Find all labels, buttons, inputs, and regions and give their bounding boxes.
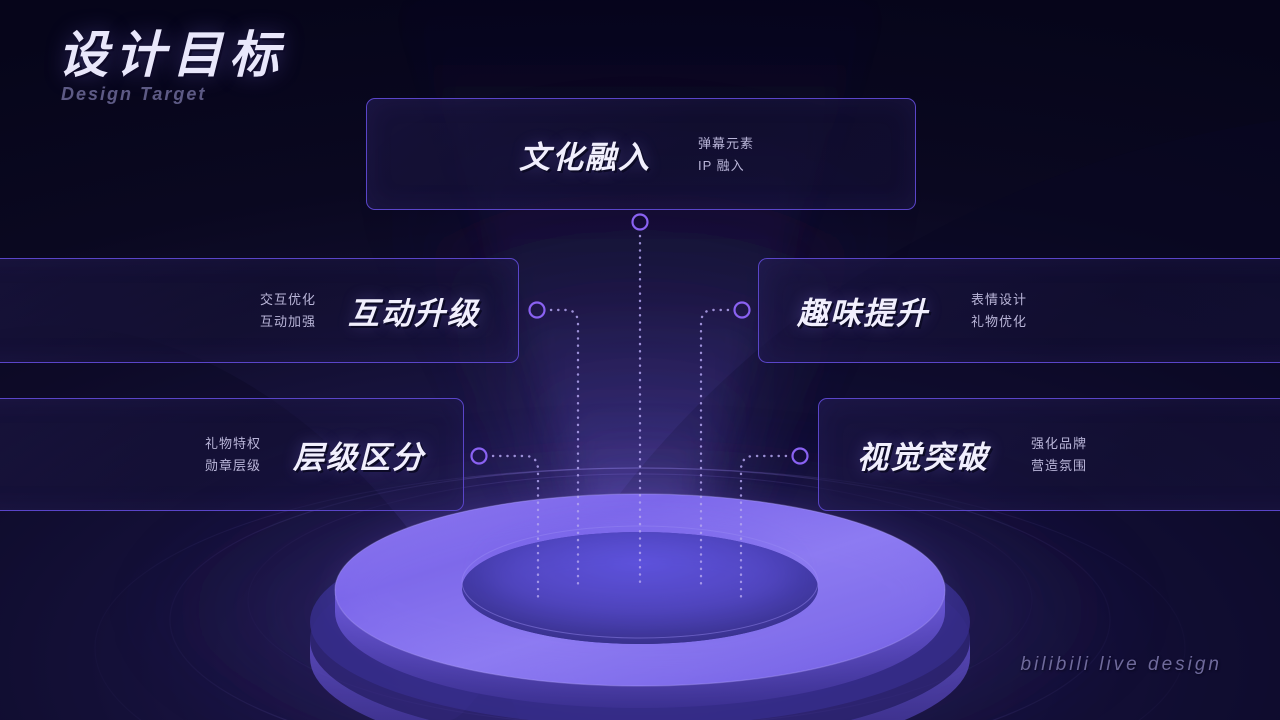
page-title: 设计目标: [58, 28, 286, 82]
connector-tier: [493, 456, 538, 600]
node-interaction-icon: [530, 303, 545, 318]
card-culture-subs: 弹幕元素 IP 融入: [698, 137, 754, 172]
card-culture[interactable]: 文化融入 弹幕元素 IP 融入: [366, 98, 916, 210]
card-interaction-sub-0: 交互优化: [260, 293, 316, 306]
card-interaction-subs: 交互优化 互动加强: [260, 293, 316, 328]
card-culture-title: 文化融入: [519, 132, 651, 177]
card-culture-sub-0: 弹幕元素: [698, 137, 754, 150]
card-interaction[interactable]: 交互优化 互动加强 互动升级: [0, 258, 519, 363]
card-visual-sub-0: 强化品牌: [1031, 437, 1087, 450]
connector-interaction: [551, 310, 578, 585]
card-fun-subs: 表情设计 礼物优化: [971, 293, 1027, 328]
card-tier-title: 层级区分: [293, 432, 425, 477]
slide-stage: 设计目标 Design Target 文化融入 弹幕元素 IP 融入 交互优化 …: [0, 0, 1280, 720]
brand-watermark: bilibili live design: [1020, 654, 1222, 676]
node-tier-icon: [472, 449, 487, 464]
card-visual-sub-1: 营造氛围: [1031, 459, 1087, 472]
card-tier[interactable]: 礼物特权 勋章层级 层级区分: [0, 398, 464, 511]
card-tier-sub-0: 礼物特权: [205, 437, 261, 450]
card-tier-sub-1: 勋章层级: [205, 459, 261, 472]
card-visual-subs: 强化品牌 营造氛围: [1031, 437, 1087, 472]
card-interaction-sub-1: 互动加强: [260, 315, 316, 328]
connector-fun: [701, 310, 728, 585]
card-fun-sub-1: 礼物优化: [971, 315, 1027, 328]
card-fun-title: 趣味提升: [797, 288, 929, 333]
card-visual-title: 视觉突破: [857, 432, 989, 477]
page-subtitle: Design Target: [61, 84, 286, 105]
card-visual[interactable]: 视觉突破 强化品牌 营造氛围: [818, 398, 1280, 511]
card-fun[interactable]: 趣味提升 表情设计 礼物优化: [758, 258, 1280, 363]
connector-visual: [741, 456, 786, 600]
card-culture-sub-1: IP 融入: [698, 159, 754, 172]
node-culture-icon: [633, 215, 648, 230]
page-title-block: 设计目标 Design Target: [58, 28, 286, 105]
node-visual-icon: [793, 449, 808, 464]
card-fun-sub-0: 表情设计: [971, 293, 1027, 306]
card-interaction-title: 互动升级: [348, 288, 480, 333]
node-fun-icon: [735, 303, 750, 318]
card-tier-subs: 礼物特权 勋章层级: [205, 437, 261, 472]
